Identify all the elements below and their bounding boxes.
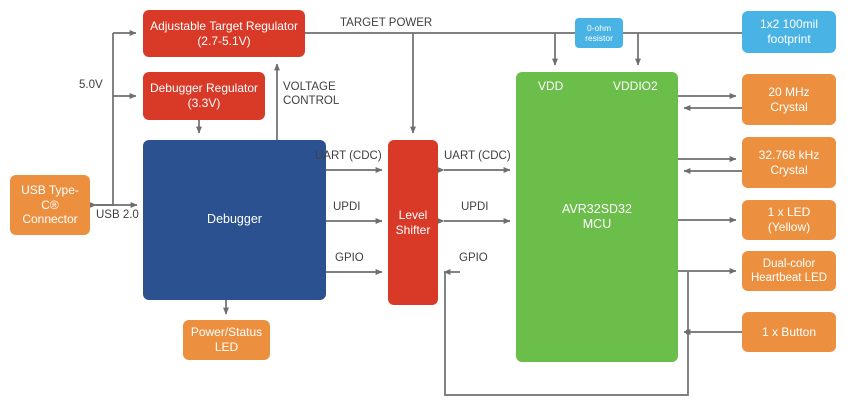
block-usb-type-c-connector[interactable]: USB Type-C® Connector — [10, 175, 90, 235]
block-button[interactable]: 1 x Button — [742, 312, 836, 352]
block-debugger-regulator[interactable]: Debugger Regulator (3.3V) — [143, 72, 265, 120]
wire-label-uart-cdc-left: UART (CDC) — [315, 150, 382, 162]
wire-usb-to-5v-bus — [90, 33, 113, 205]
junction-dot-gpio-button — [685, 329, 690, 334]
block-diagram-canvas: USB Type-C® Connector Adjustable Target … — [0, 0, 850, 405]
block-debugger[interactable]: Debugger — [143, 140, 326, 300]
block-adjustable-target-regulator[interactable]: Adjustable Target Regulator (2.7-5.1V) — [143, 10, 305, 57]
block-32768khz-crystal[interactable]: 32.768 kHz Crystal — [742, 137, 836, 188]
pin-label-vdd: VDD — [538, 79, 563, 93]
wire-label-uart-cdc-right: UART (CDC) — [444, 150, 511, 162]
block-heartbeat-led[interactable]: Dual-color Heartbeat LED — [742, 251, 836, 291]
block-20mhz-crystal[interactable]: 20 MHz Crystal — [742, 74, 836, 125]
wire-label-5v: 5.0V — [79, 79, 103, 91]
block-power-status-led[interactable]: Power/Status LED — [183, 320, 270, 360]
wire-label-voltage-control: VOLTAGE CONTROL — [283, 80, 339, 109]
block-yellow-led[interactable]: 1 x LED (Yellow) — [742, 200, 836, 240]
wire-label-target-power: TARGET POWER — [340, 17, 432, 29]
wire-label-gpio-right: GPIO — [459, 252, 488, 264]
wire-label-updi-right: UPDI — [461, 201, 488, 213]
block-zero-ohm-resistor[interactable]: 0-ohm resistor — [575, 18, 623, 48]
wire-label-gpio-left: GPIO — [335, 252, 364, 264]
block-avr32sd32-mcu[interactable]: AVR32SD32 MCU — [516, 72, 678, 362]
pin-label-vddio2: VDDIO2 — [613, 79, 658, 93]
wire-label-usb-2-0: USB 2.0 — [96, 209, 139, 221]
wire-label-updi-left: UPDI — [333, 201, 360, 213]
block-level-shifter[interactable]: Level Shifter — [388, 140, 438, 305]
block-1x2-100mil-footprint[interactable]: 1x2 100mil footprint — [742, 11, 836, 53]
